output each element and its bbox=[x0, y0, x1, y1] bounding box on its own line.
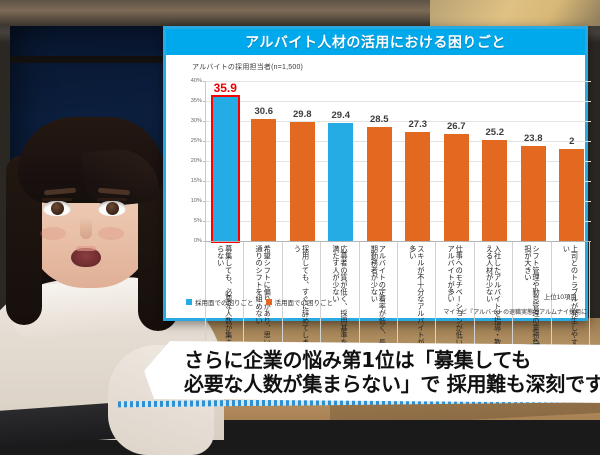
legend-item-2: 活用面での困りごと bbox=[266, 297, 334, 307]
ceiling-light-panel bbox=[430, 0, 600, 26]
bar-3: 29.8 bbox=[290, 122, 315, 241]
caption-line-2: 必要な人数が集まらない」で 採用難も深刻です bbox=[184, 372, 600, 396]
chart-legend: 採用面での困りごと 活用面での困りごと bbox=[186, 297, 333, 307]
presenter-nose bbox=[80, 217, 92, 239]
bar-slot: 26.7 bbox=[437, 81, 476, 241]
legend-item-1: 採用面での困りごと bbox=[186, 297, 254, 307]
presenter-blush-left bbox=[40, 227, 66, 240]
bar-9: 23.8 bbox=[521, 146, 546, 241]
y-tick-label: 5% bbox=[194, 218, 202, 224]
y-tick-label: 0% bbox=[194, 238, 202, 244]
presenter-upper-lip bbox=[76, 246, 96, 251]
bar-value-label: 23.8 bbox=[524, 133, 543, 144]
y-axis: 40%35%30%25%20%15%10%5%0% bbox=[182, 81, 204, 241]
y-tick-label: 25% bbox=[191, 138, 202, 144]
presenter-eye-right bbox=[98, 201, 126, 216]
y-tick-label: 10% bbox=[191, 198, 202, 204]
bar-slot: 29.4 bbox=[322, 81, 361, 241]
legend-label: 採用面での困りごと bbox=[195, 297, 254, 307]
bar-slot: 30.6 bbox=[245, 81, 284, 241]
category-cell-8: 入社したアルバイトを指導・教える人材が少ない bbox=[475, 242, 513, 353]
chart-plot-area: 40%35%30%25%20%15%10%5%0% 35.9 30.6 29.8 bbox=[182, 81, 590, 291]
plot-grid: 35.9 30.6 29.8 29.4 bbox=[205, 81, 590, 241]
bar-slot: 35.9 bbox=[206, 81, 245, 241]
bar-value-label: 25.2 bbox=[486, 127, 505, 138]
bar-slot: 28.5 bbox=[360, 81, 399, 241]
chart-subtitle: アルバイトの採用担当者(n=1,500) bbox=[192, 62, 585, 72]
bar-slot: 29.8 bbox=[283, 81, 322, 241]
bar-8: 25.2 bbox=[482, 140, 507, 241]
category-label: シフト管理や勤怠管理の業務負担が大きい bbox=[524, 245, 540, 351]
bar-value-label: 30.6 bbox=[255, 106, 274, 117]
legend-swatch-icon bbox=[186, 299, 192, 305]
bar-slot: 27.3 bbox=[399, 81, 438, 241]
chart-source-note: マイナビ『アルバイトの退職実態とアルムナイ採用に bbox=[443, 307, 587, 316]
y-tick-label: 30% bbox=[191, 118, 202, 124]
chart-card: アルバイト人材の活用における困りごと アルバイトの採用担当者(n=1,500) … bbox=[163, 26, 588, 321]
legend-label: 活用面での困りごと bbox=[275, 297, 334, 307]
category-cell-6: スキルが不十分なアルバイトが多い bbox=[398, 242, 436, 353]
y-tick-label: 40% bbox=[191, 78, 202, 84]
caption-line-1: さらに企業の悩み第1位は「募集しても bbox=[184, 348, 600, 372]
bar-slot: 25.2 bbox=[476, 81, 515, 241]
bar-slot: 23.8 bbox=[514, 81, 553, 241]
category-label: 仕事へのモチベーションが低いアルバイトが多い bbox=[447, 245, 463, 351]
category-label: 入社したアルバイトを指導・教える人材が少ない bbox=[485, 245, 501, 351]
bar-value-label: 29.4 bbox=[332, 110, 351, 121]
y-tick-label: 15% bbox=[191, 178, 202, 184]
chart-note-top: 上位10項目 bbox=[544, 291, 577, 301]
bar-value-label: 35.9 bbox=[214, 81, 237, 95]
chart-title: アルバイト人材の活用における困りごと bbox=[166, 29, 585, 55]
bar-4: 29.4 bbox=[328, 123, 353, 241]
bar-value-label: 2 bbox=[569, 136, 574, 147]
bar-value-label: 29.8 bbox=[293, 109, 312, 120]
y-tick-label: 35% bbox=[191, 98, 202, 104]
category-label: 応募者の質が低く、採用基準を満たす人が少ない bbox=[332, 245, 348, 351]
bar-value-label: 26.7 bbox=[447, 121, 466, 132]
bar-value-label: 28.5 bbox=[370, 114, 389, 125]
category-cell-7: 仕事へのモチベーションが低いアルバイトが多い bbox=[436, 242, 474, 353]
bar-6: 27.3 bbox=[405, 132, 430, 241]
presenter-blush-right bbox=[98, 227, 124, 240]
category-label: スキルが不十分なアルバイトが多い bbox=[409, 245, 425, 351]
bar-7: 26.7 bbox=[444, 134, 469, 241]
y-tick-label: 20% bbox=[191, 158, 202, 164]
bar-value-label: 27.3 bbox=[409, 119, 428, 130]
bar-1: 35.9 bbox=[213, 97, 238, 241]
caption-banner: さらに企業の悩み第1位は「募集しても 必要な人数が集まらない」で 採用難も深刻で… bbox=[144, 341, 600, 403]
bar-series: 35.9 30.6 29.8 29.4 bbox=[206, 81, 591, 241]
bar-slot: 2 bbox=[553, 81, 592, 241]
bar-5: 28.5 bbox=[367, 127, 392, 241]
presenter-eye-left bbox=[43, 201, 71, 216]
category-cell-5: アルバイトの定着率が低く、長期勤務者が少ない bbox=[360, 242, 398, 353]
bar-10: 2 bbox=[559, 149, 584, 241]
category-label: アルバイトの定着率が低く、長期勤務者が少ない bbox=[370, 245, 386, 351]
bar-2: 30.6 bbox=[251, 119, 276, 241]
legend-swatch-icon bbox=[266, 299, 272, 305]
